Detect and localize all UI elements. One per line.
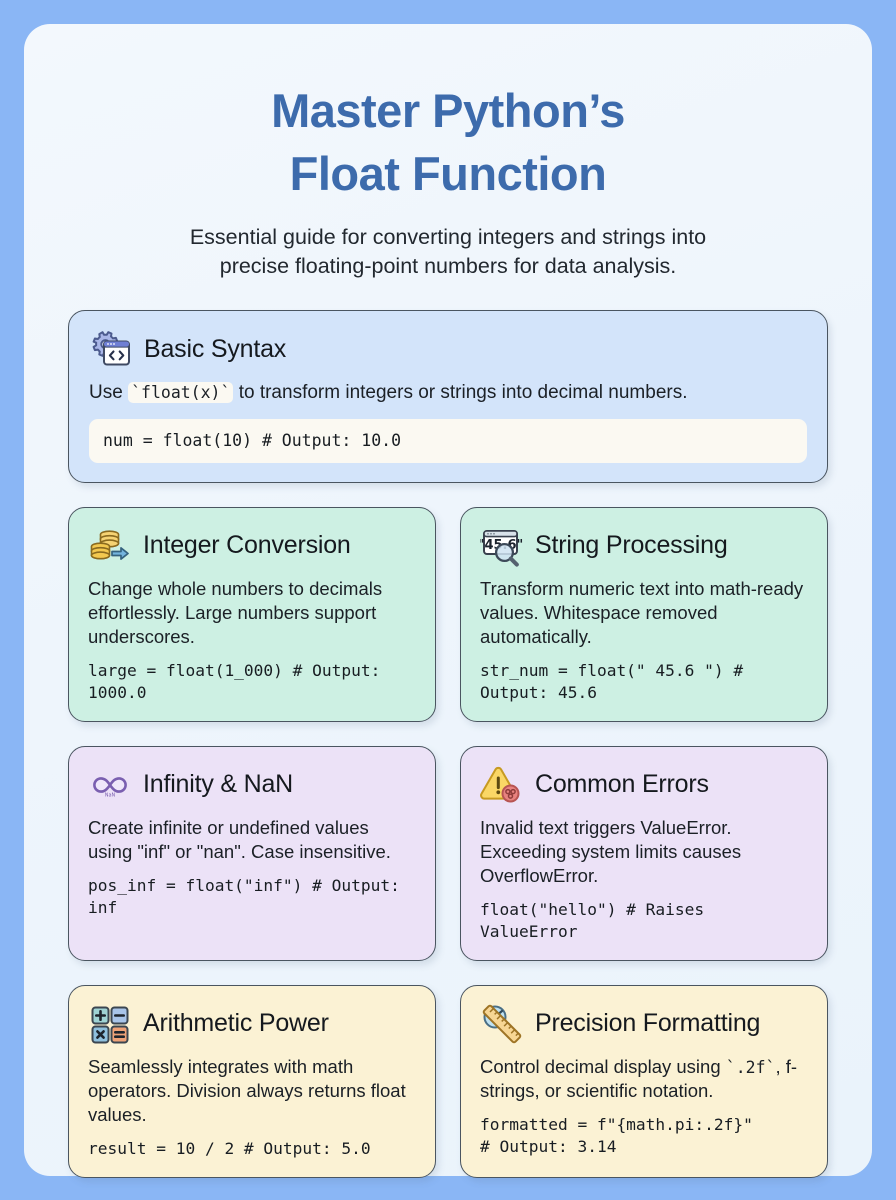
code-snippet: result = 10 / 2 # Output: 5.0 [88, 1138, 416, 1160]
card-basic-syntax: Basic Syntax Use `float(x)` to transform… [68, 310, 828, 483]
card-header: Precision Formatting [480, 1002, 808, 1046]
page-title-line-1: Master Python’s [68, 80, 828, 143]
card-infinity-nan: NaN Infinity & NaN Create infinite or un… [68, 746, 436, 961]
card-header: Arithmetic Power [88, 1002, 416, 1046]
code-snippet: str_num = float(" 45.6 ") # Output: 45.6 [480, 660, 808, 704]
card-description: Create infinite or undefined values usin… [88, 816, 416, 864]
desc-text-before: Use [89, 382, 128, 403]
card-header: Basic Syntax [89, 328, 807, 372]
card-description: Change whole numbers to decimals effortl… [88, 577, 416, 649]
card-common-errors: Common Errors Invalid text triggers Valu… [460, 746, 828, 961]
card-title: Infinity & NaN [143, 771, 293, 799]
code-snippet: formatted = f"{math.pi:.2f}" # Output: 3… [480, 1114, 808, 1158]
card-row-2: NaN Infinity & NaN Create infinite or un… [68, 746, 828, 961]
card-description: Transform numeric text into math-ready v… [480, 577, 808, 649]
card-header: NaN Infinity & NaN [88, 763, 416, 807]
card-header: Common Errors [480, 763, 808, 807]
card-header: "45.6" String Processing [480, 524, 808, 568]
svg-text:NaN: NaN [105, 793, 116, 799]
page-subtitle: Essential guide for converting integers … [68, 223, 828, 280]
code-snippet: large = float(1_000) # Output: 1000.0 [88, 660, 416, 704]
card-title: Integer Conversion [143, 532, 351, 560]
code-snippet: pos_inf = float("inf") # Output: inf [88, 875, 416, 919]
cards-grid: Basic Syntax Use `float(x)` to transform… [68, 310, 828, 1178]
card-title: Precision Formatting [535, 1010, 760, 1038]
card-row-1: Integer Conversion Change whole numbers … [68, 507, 828, 722]
card-description: Seamlessly integrates with math operator… [88, 1055, 416, 1127]
card-integer-conversion: Integer Conversion Change whole numbers … [68, 507, 436, 722]
ruler-protractor-icon [480, 1002, 524, 1046]
card-string-processing: "45.6" String Processing Transform numer… [460, 507, 828, 722]
card-header: Integer Conversion [88, 524, 416, 568]
page-subtitle-line-1: Essential guide for converting integers … [82, 223, 814, 252]
card-description: Use `float(x)` to transform integers or … [89, 381, 807, 406]
card-description: Invalid text triggers ValueError. Exceed… [480, 816, 808, 888]
infinity-icon: NaN [88, 763, 132, 807]
card-title: Basic Syntax [144, 336, 286, 364]
card-row-3: Arithmetic Power Seamlessly integrates w… [68, 985, 828, 1178]
poster-panel: Master Python’s Float Function Essential… [24, 24, 872, 1176]
inline-code-chip: `.2f` [726, 1058, 776, 1077]
card-title: String Processing [535, 532, 728, 560]
operator-keys-icon [88, 1002, 132, 1046]
warning-triangle-bug-icon [480, 763, 524, 807]
page-title-line-2: Float Function [68, 143, 828, 206]
code-snippet: num = float(10) # Output: 10.0 [89, 419, 807, 463]
page-subtitle-line-2: precise floating-point numbers for data … [82, 252, 814, 281]
window-magnifier-icon: "45.6" [480, 524, 524, 568]
gear-code-window-icon [89, 328, 133, 372]
page-title: Master Python’s Float Function [68, 80, 828, 205]
card-description: Control decimal display using `.2f`, f-s… [480, 1055, 808, 1103]
desc-text-after: to transform integers or strings into de… [233, 382, 687, 403]
code-snippet: float("hello") # Raises ValueError [480, 899, 808, 943]
card-precision-formatting: Precision Formatting Control decimal dis… [460, 985, 828, 1178]
coins-arrow-icon [88, 524, 132, 568]
card-title: Common Errors [535, 771, 709, 799]
desc-text-before: Control decimal display using [480, 1056, 726, 1077]
card-title: Arithmetic Power [143, 1010, 329, 1038]
card-arithmetic-power: Arithmetic Power Seamlessly integrates w… [68, 985, 436, 1178]
inline-code-chip: `float(x)` [128, 382, 233, 403]
